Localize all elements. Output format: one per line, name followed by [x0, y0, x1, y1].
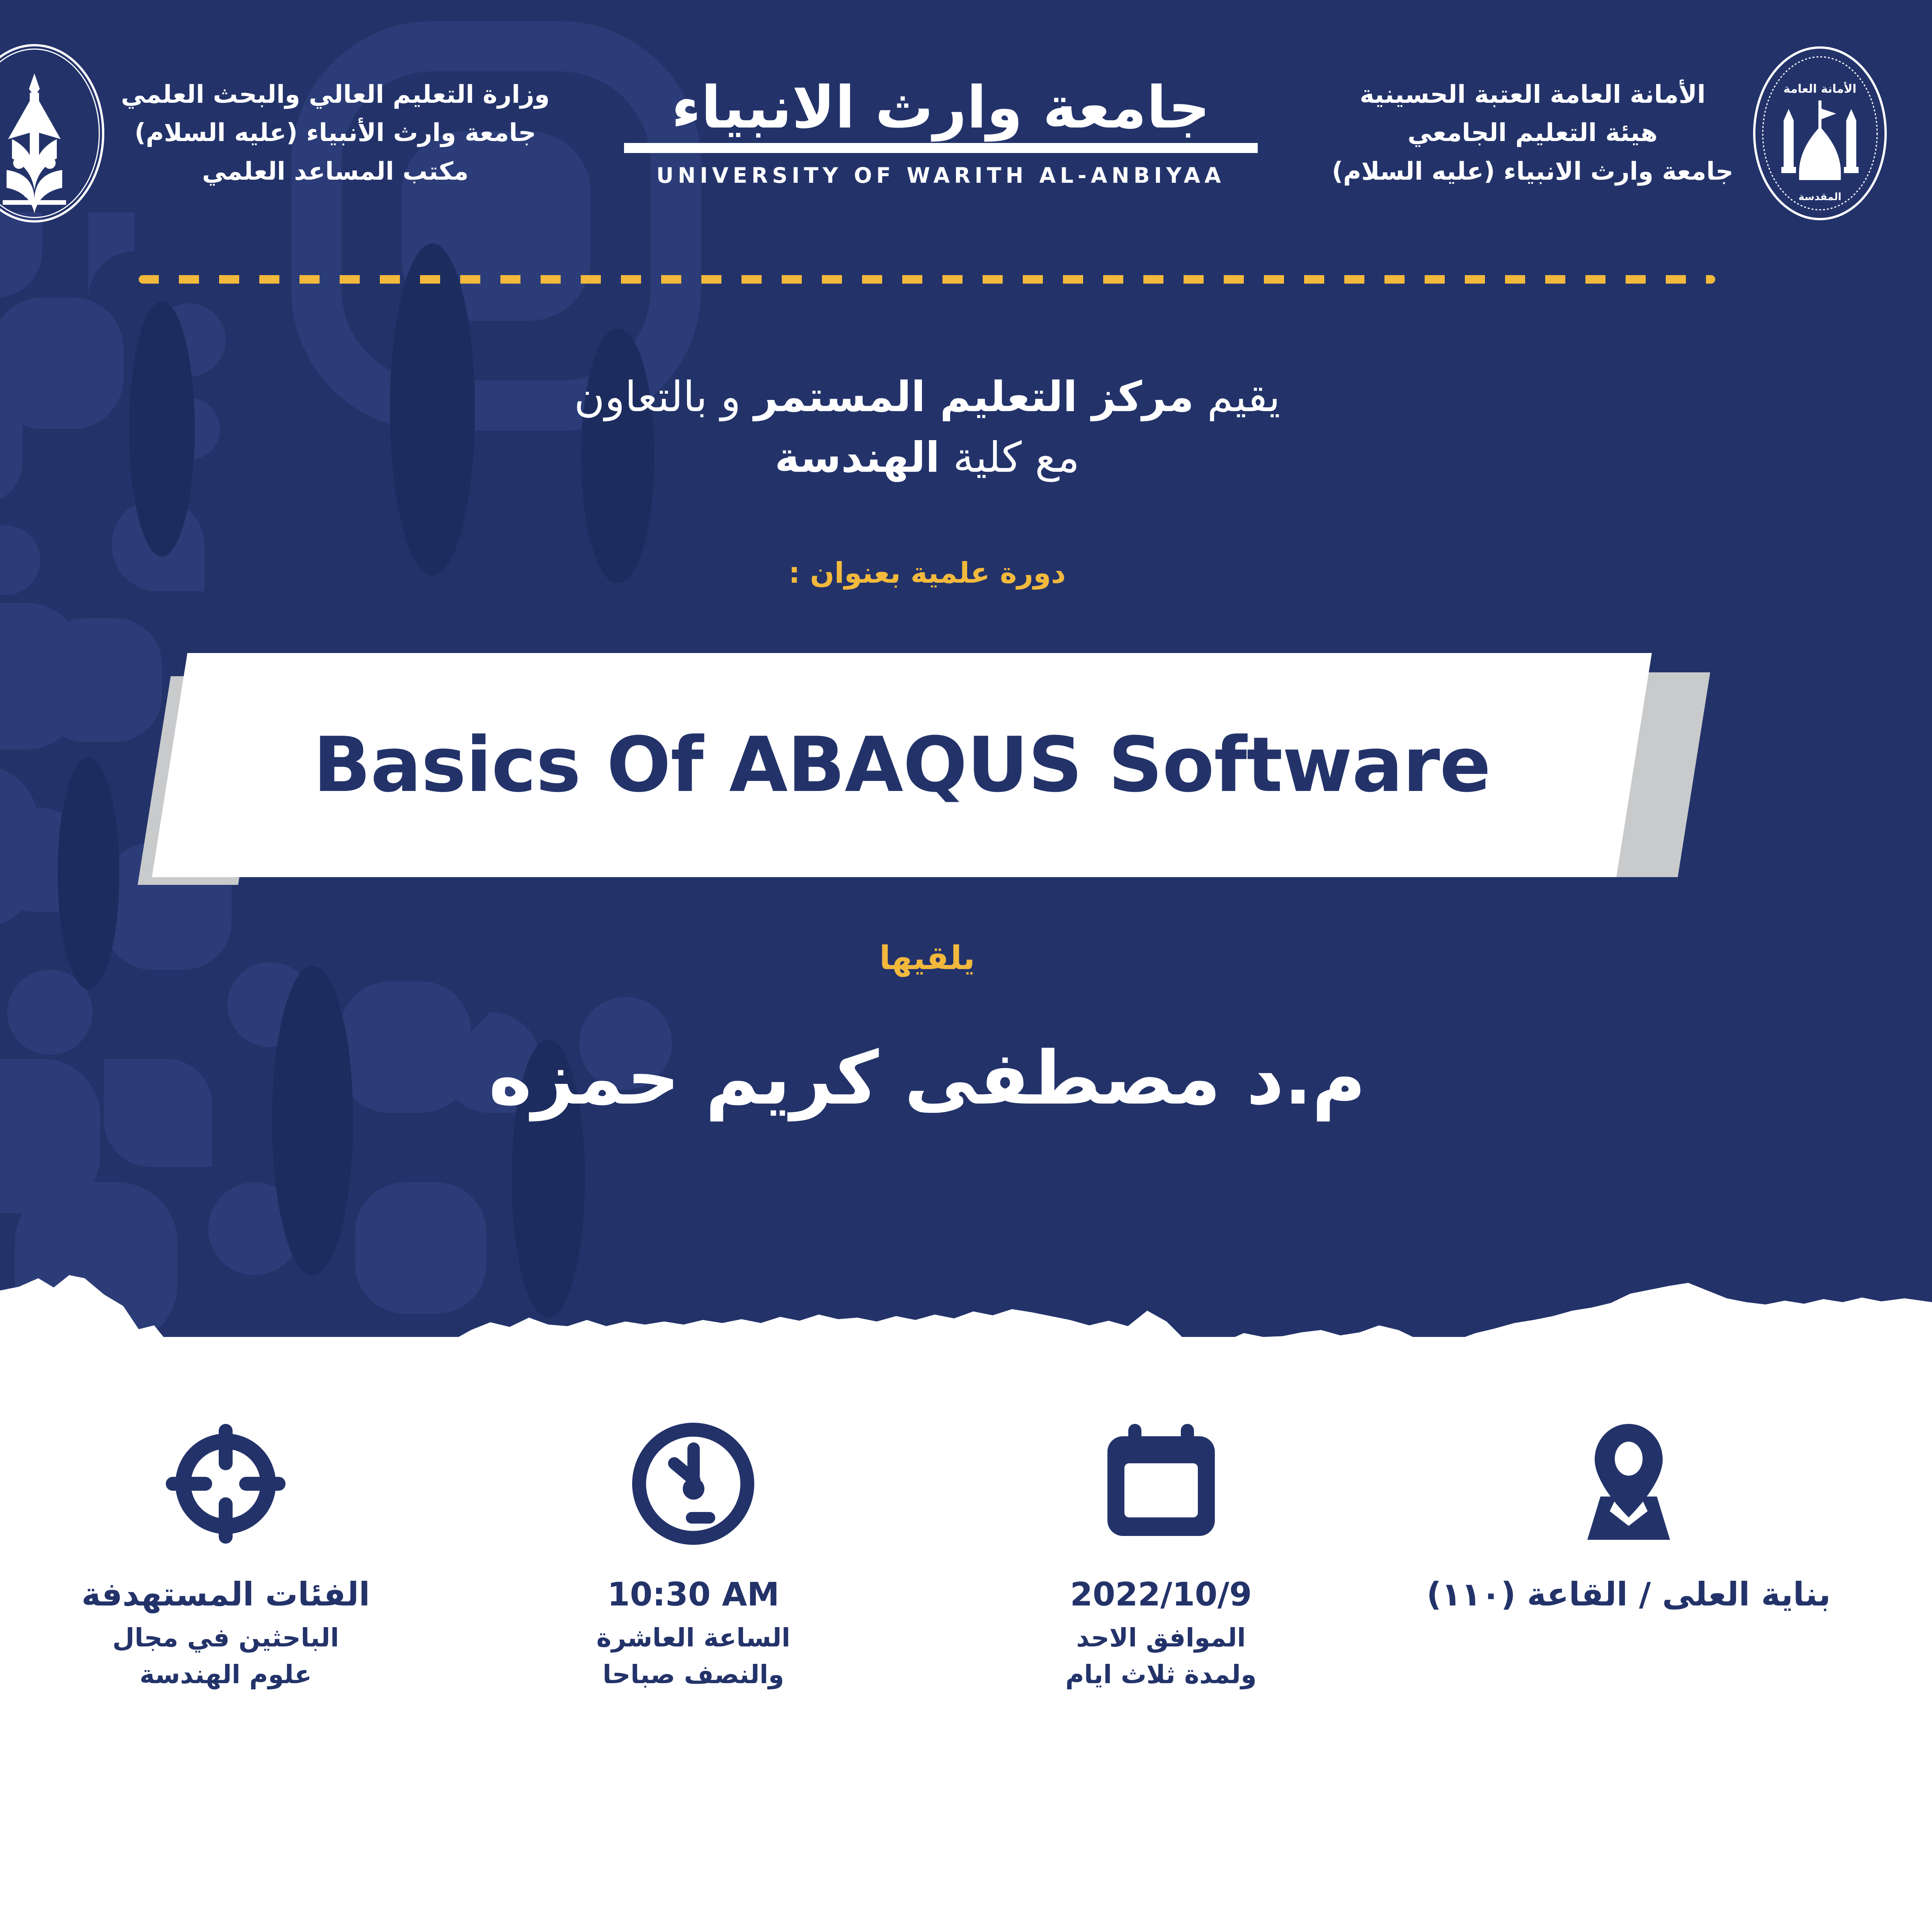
shrine-line-2: هيئة التعليم الجامعي	[1332, 114, 1733, 152]
poster-header: 2017 وزارة التعليم العالي والبحث العلمي …	[0, 0, 1932, 267]
wordmark-rule	[624, 143, 1258, 153]
detail-audience: الفئات المستهدفة الباحثين في مجال علوم ا…	[0, 1406, 459, 1693]
wordmark-arabic: جامعة وارث الانبياء	[672, 79, 1210, 137]
detail-date: 2022/10/9 الموافق الاحد ولمدة ثلاث ايام	[927, 1406, 1395, 1693]
holy-shrine-seal-icon: الأمانة العامة المقدسة	[1743, 43, 1897, 224]
calendar-icon	[1097, 1406, 1225, 1561]
university-wordmark-logo: جامعة وارث الانبياء UNIVERSITY OF WARITH…	[559, 79, 1323, 188]
wordmark-latin: UNIVERSITY OF WARITH AL-ANBIYAA	[656, 163, 1225, 188]
ministry-line-1: وزارة التعليم العالي والبحث العلمي	[121, 76, 550, 114]
audience-title: الفئات المستهدفة	[82, 1575, 370, 1614]
shrine-affiliation-text: الأمانة العامة العتبة الحسينية هيئة التع…	[1323, 76, 1743, 191]
intro-line-2: مع كلية الهندسة	[0, 428, 1932, 488]
date-value: 2022/10/9	[1070, 1575, 1252, 1614]
course-title: Basics Of ABAQUS Software	[170, 653, 1634, 877]
date-detail: الموافق الاحد ولمدة ثلاث ايام	[1065, 1619, 1257, 1693]
detail-location: بناية العلى / القاعة (١١٠)	[1395, 1406, 1862, 1614]
title-banner: Basics Of ABAQUS Software	[0, 653, 1932, 885]
detail-time: 10:30 AM الساعة العاشرة والنصف صباحا	[459, 1406, 927, 1693]
ministry-line-2: جامعة وارث الأنبياء (عليه السلام)	[121, 114, 550, 152]
university-crest-icon: 2017	[0, 43, 112, 224]
course-label: دورة علمية بعنوان :	[0, 556, 1932, 590]
intro-text: يقيم مركز التعليم المستمر و بالتعاون مع …	[0, 367, 1932, 488]
shrine-line-1: الأمانة العامة العتبة الحسينية	[1332, 76, 1733, 114]
blue-background-panel: 2017 وزارة التعليم العالي والبحث العلمي …	[0, 0, 1932, 1337]
time-value: 10:30 AM	[607, 1575, 779, 1614]
time-detail: الساعة العاشرة والنصف صباحا	[596, 1619, 790, 1693]
audience-detail: الباحثين في مجال علوم الهندسة	[112, 1619, 339, 1693]
svg-text:المقدسة: المقدسة	[1798, 191, 1841, 203]
gold-dashed-divider	[139, 275, 1715, 284]
svg-text:الأمانة العامة: الأمانة العامة	[1784, 82, 1857, 96]
ministry-affiliation-text: وزارة التعليم العالي والبحث العلمي جامعة…	[112, 76, 559, 191]
presenter-name: م.د مصطفى كريم حمزه	[0, 1036, 1932, 1121]
presented-by-label: يلقيها	[0, 939, 1932, 977]
shrine-line-3: جامعة وارث الانبياء (عليه السلام)	[1332, 153, 1733, 191]
ministry-line-3: مكتب المساعد العلمي	[121, 153, 550, 191]
event-details-row: الفئات المستهدفة الباحثين في مجال علوم ا…	[0, 1406, 1932, 1862]
svg-text:2017: 2017	[24, 190, 45, 199]
intro-line-1: يقيم مركز التعليم المستمر و بالتعاون	[0, 367, 1932, 428]
poster-canvas: 2017 وزارة التعليم العالي والبحث العلمي …	[0, 0, 1932, 1932]
location-value: بناية العلى / القاعة (١١٠)	[1427, 1575, 1831, 1614]
target-icon	[162, 1406, 289, 1561]
map-pin-icon	[1565, 1406, 1692, 1561]
clock-icon	[629, 1406, 757, 1561]
